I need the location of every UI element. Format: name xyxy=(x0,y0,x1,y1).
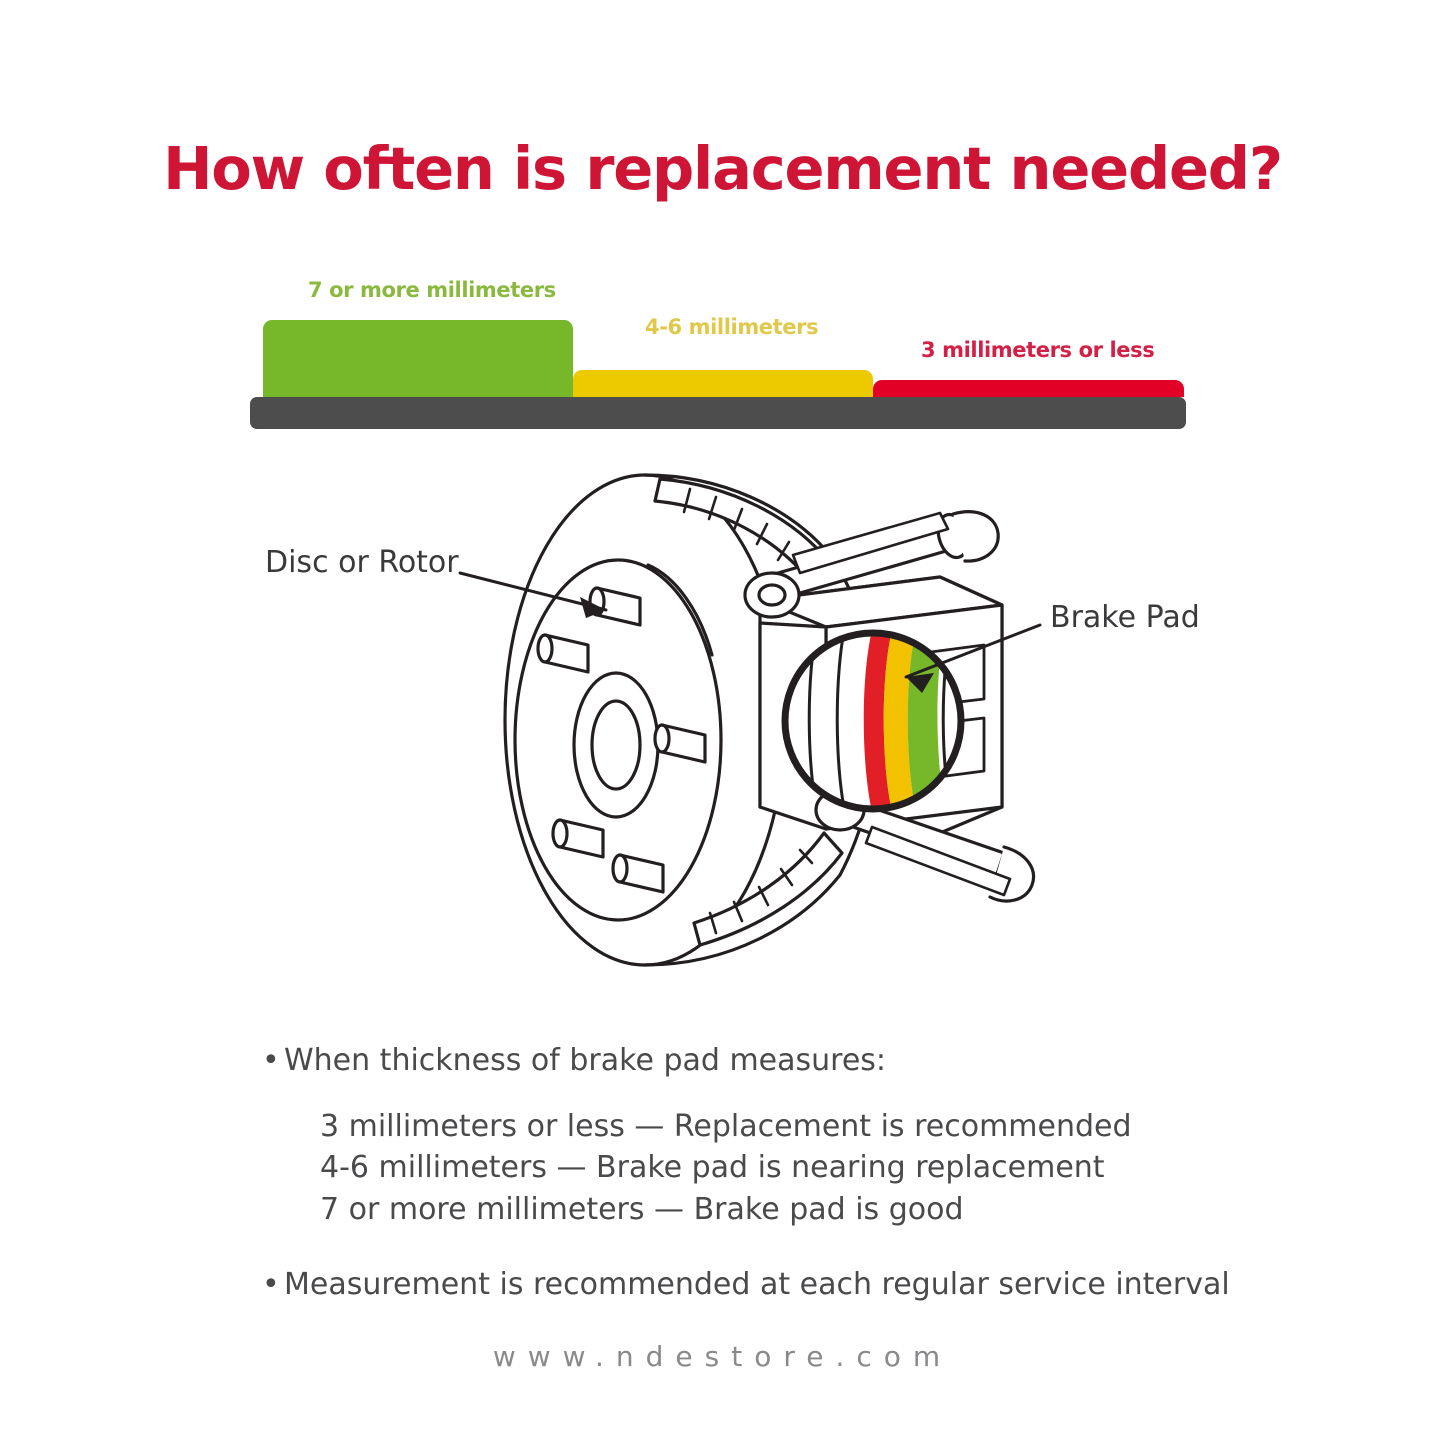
bullet-measurement-interval: •Measurement is recommended at each regu… xyxy=(262,1270,1242,1300)
bullet-thickness: •When thickness of brake pad measures: xyxy=(262,1046,1242,1076)
brake-rotor-svg xyxy=(0,455,1445,1015)
footer-url[interactable]: www.ndestore.com xyxy=(0,1340,1445,1373)
bar-label-yellow: 4-6 millimeters xyxy=(645,315,818,339)
baseline-plate xyxy=(250,397,1186,429)
thickness-sub-list: 3 millimeters or less — Replacement is r… xyxy=(320,1106,1242,1230)
bullet-marker-icon: • xyxy=(262,1270,284,1300)
caliper-upper-boss xyxy=(745,573,799,617)
brake-assembly-diagram: Disc or Rotor Brake Pad xyxy=(0,455,1445,1015)
bar-label-red: 3 millimeters or less xyxy=(921,338,1154,362)
sub-line-4-6mm: 4-6 millimeters — Brake pad is nearing r… xyxy=(320,1147,1242,1188)
bar-label-green: 7 or more millimeters xyxy=(308,278,556,302)
bar-yellow xyxy=(573,370,873,397)
sub-line-3mm: 3 millimeters or less — Replacement is r… xyxy=(320,1106,1242,1147)
bullet-measurement-text: Measurement is recommended at each regul… xyxy=(284,1267,1230,1302)
rotor-hub-bore-inner xyxy=(592,701,640,789)
infographic-page: How often is replacement needed? 7 or mo… xyxy=(0,0,1445,1445)
page-title: How often is replacement needed? xyxy=(0,134,1445,203)
sub-line-7mm: 7 or more millimeters — Brake pad is goo… xyxy=(320,1189,1242,1230)
bar-green xyxy=(263,320,573,397)
bullet-thickness-text: When thickness of brake pad measures: xyxy=(284,1043,886,1078)
notes-section: •When thickness of brake pad measures: 3… xyxy=(262,1046,1242,1300)
bar-red xyxy=(873,380,1184,397)
bullet-marker-icon: • xyxy=(262,1046,284,1076)
thickness-bar-chart: 7 or more millimeters 4-6 millimeters 3 … xyxy=(0,260,1445,460)
